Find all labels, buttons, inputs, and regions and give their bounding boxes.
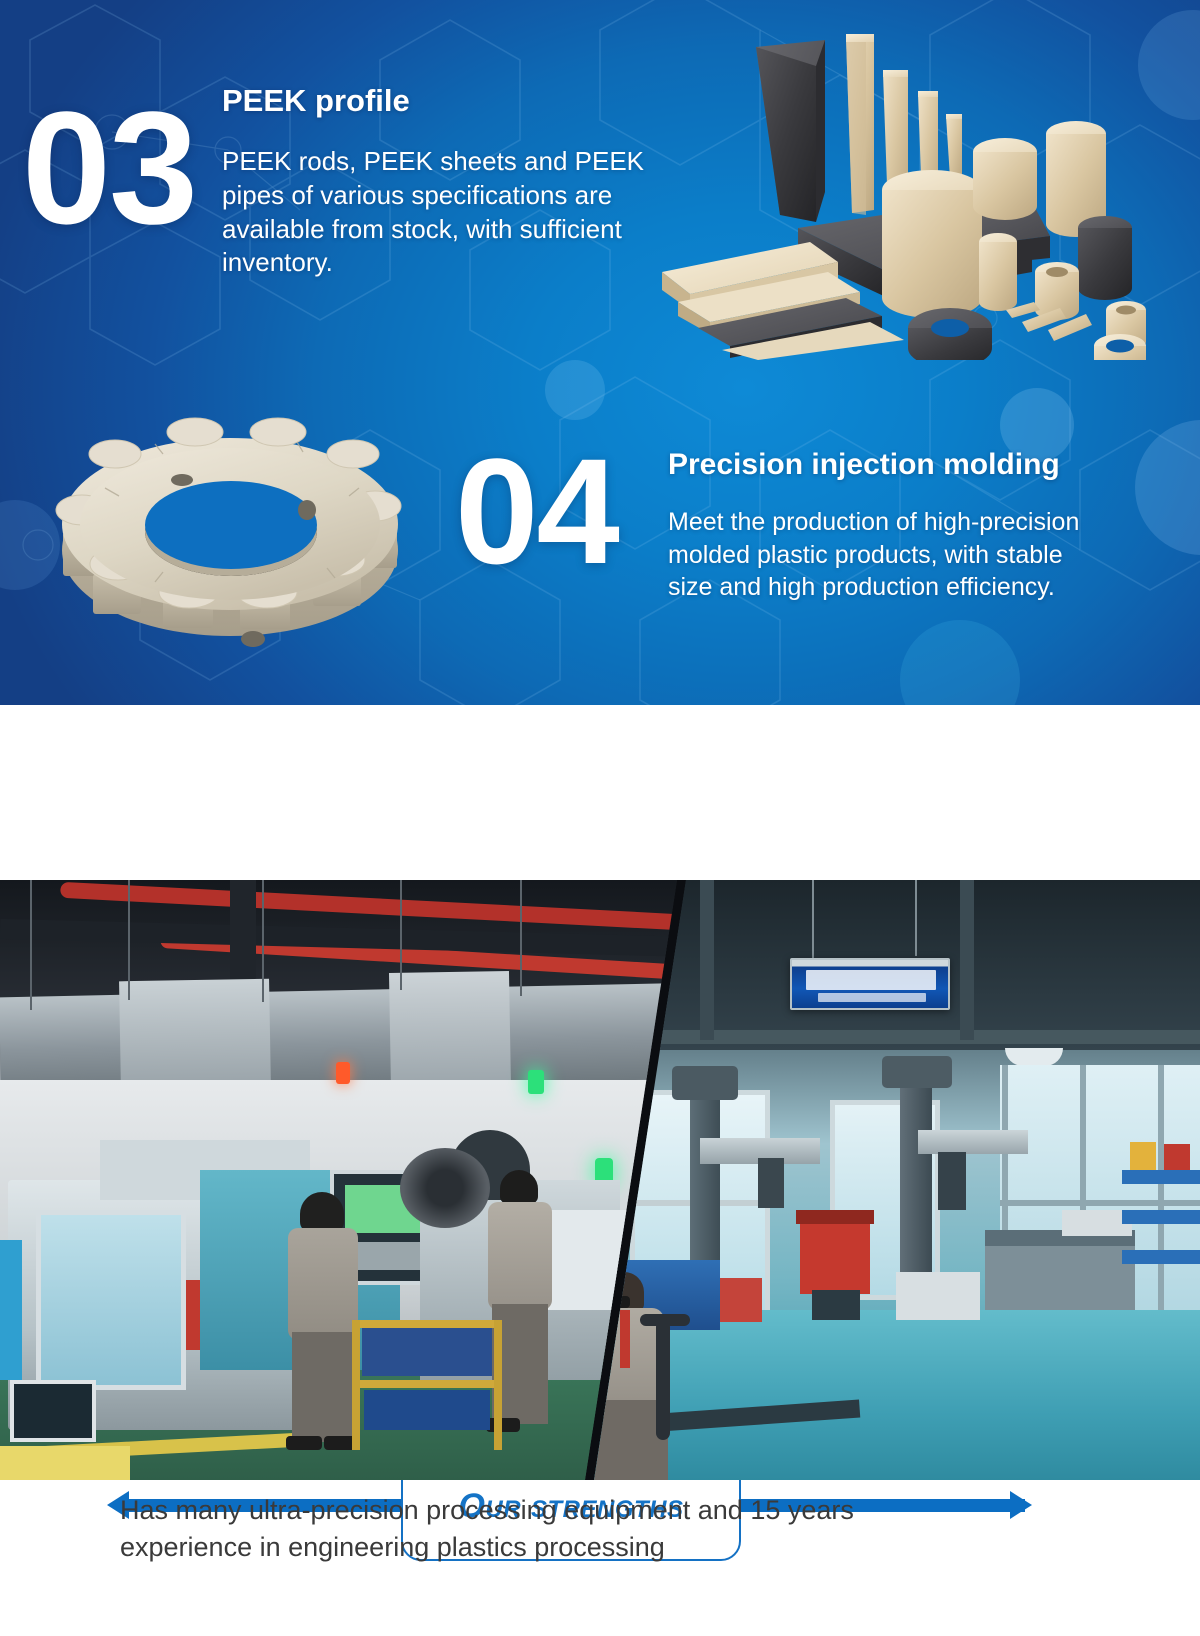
block-body-precision-injection-molding: Meet the production of high-precision mo… bbox=[668, 506, 1098, 604]
block-number-03: 03 bbox=[22, 88, 196, 248]
hero-panel: 03 PEEK profile PEEK rods, PEEK sheets a… bbox=[0, 0, 1200, 705]
our-strengths-banner: Our strengths bbox=[0, 705, 1200, 880]
bokeh-circle bbox=[545, 360, 605, 420]
bottom-caption: Has many ultra-precision processing equi… bbox=[0, 1492, 1200, 1567]
block-title-peek-profile: PEEK profile bbox=[222, 83, 410, 119]
peek-gear-ring-image bbox=[35, 392, 425, 667]
peek-profile-product-image bbox=[620, 10, 1180, 360]
workshop-photo-strip bbox=[0, 880, 1200, 1480]
block-body-peek-profile: PEEK rods, PEEK sheets and PEEK pipes of… bbox=[222, 145, 662, 280]
block-title-precision-injection-molding: Precision injection molding bbox=[668, 448, 1060, 482]
caption-line-1: Has many ultra-precision processing equi… bbox=[120, 1492, 1080, 1529]
block-number-04: 04 bbox=[455, 436, 618, 586]
caption-line-2: experience in engineering plastics proce… bbox=[120, 1529, 1080, 1566]
